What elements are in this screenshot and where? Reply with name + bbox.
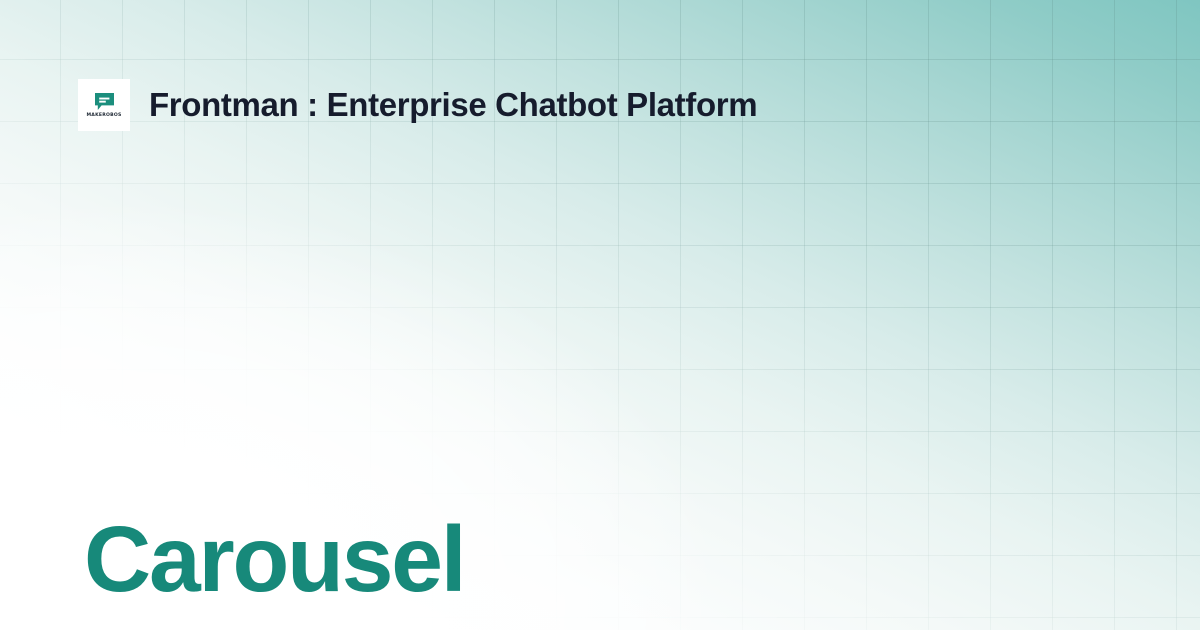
page-title: Carousel	[84, 513, 464, 606]
logo-wordmark: MAKEROBOS	[87, 114, 122, 119]
brand-header: MAKEROBOS Frontman : Enterprise Chatbot …	[78, 79, 757, 131]
product-title: Frontman : Enterprise Chatbot Platform	[149, 87, 757, 123]
og-banner: MAKEROBOS Frontman : Enterprise Chatbot …	[0, 0, 1200, 630]
makerobos-logo: MAKEROBOS	[78, 79, 130, 131]
chat-bubble-icon	[94, 92, 115, 111]
